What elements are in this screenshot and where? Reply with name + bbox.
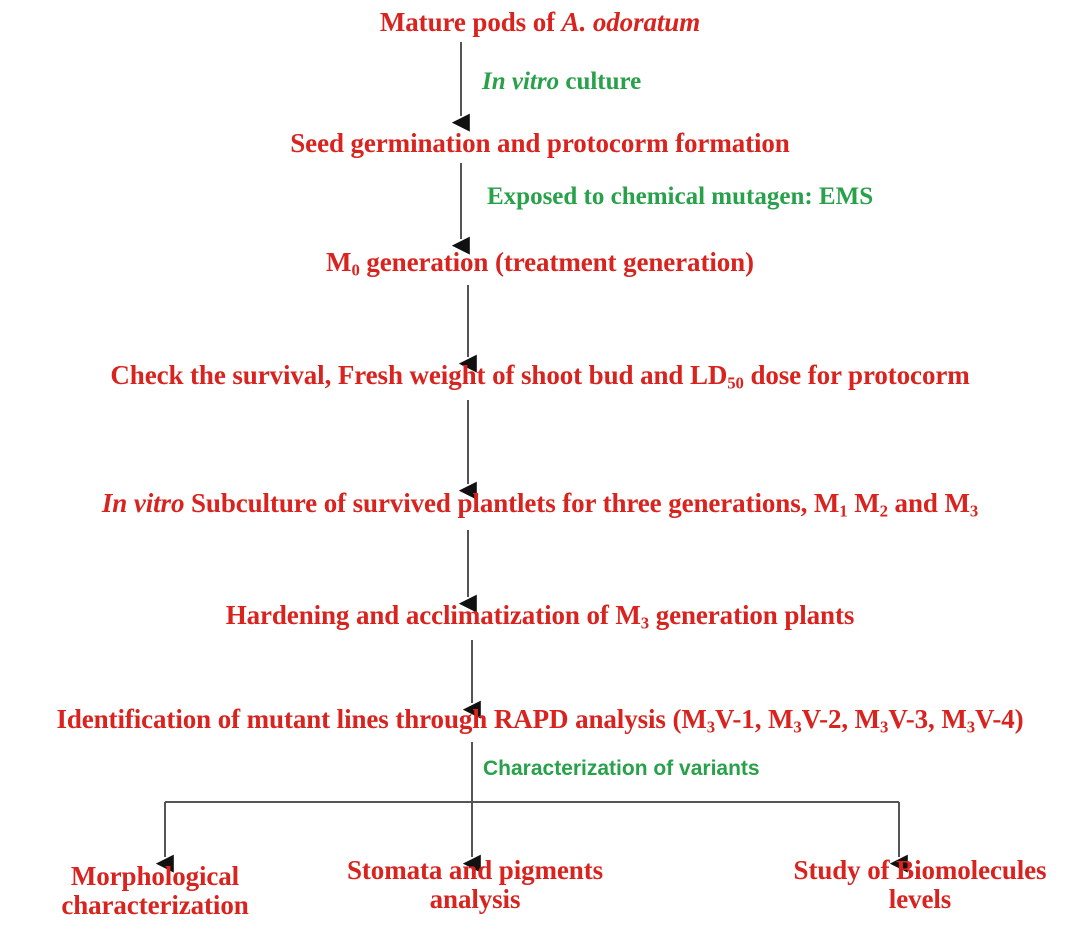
node-subculture-sub-2: 2 — [880, 502, 888, 521]
node-subculture-sep-2: and M — [888, 488, 970, 518]
flowchart-canvas: Mature pods of A. odoratum In vitro cult… — [0, 0, 1080, 937]
node-m0-generation: M0 generation (treatment generation) — [0, 248, 1080, 280]
leaf-morphological-characterization: Morphological characterization — [25, 862, 285, 920]
node-rapd-identification: Identification of mutant lines through R… — [0, 705, 1080, 737]
node-m0-pre: M — [326, 247, 351, 277]
annotation-in-vitro-rest: culture — [559, 68, 641, 95]
node-hardening: Hardening and acclimatization of M3 gene… — [0, 601, 1080, 633]
node-check-survival: Check the survival, Fresh weight of shoo… — [0, 361, 1080, 393]
node-check-post: dose for protocorm — [744, 360, 970, 390]
node-rapd-seg-5: V-4) — [975, 704, 1024, 734]
node-subculture-mid: Subculture of survived plantlets for thr… — [184, 488, 839, 518]
node-seed-germination: Seed germination and protocorm formation — [0, 129, 1080, 158]
node-mature-pods: Mature pods of A. odoratum — [0, 8, 1080, 37]
leaf-biomolecules-line-2: levels — [765, 885, 1075, 914]
annotation-ems-text: Exposed to chemical mutagen: EMS — [487, 183, 873, 210]
node-rapd-sub-d: 3 — [967, 718, 975, 737]
leaf-biomolecules: Study of Biomolecules levels — [765, 856, 1075, 914]
node-rapd-pre: Identification of mutant lines through R… — [56, 704, 706, 734]
node-rapd-sub-a: 3 — [707, 718, 715, 737]
leaf-stomata-pigments: Stomata and pigments analysis — [330, 856, 620, 914]
node-hardening-pre: Hardening and acclimatization of M — [226, 600, 641, 630]
leaf-stomata-line-1: Stomata and pigments — [330, 856, 620, 885]
node-m0-subscript: 0 — [351, 261, 359, 280]
node-hardening-subscript: 3 — [641, 614, 649, 633]
node-subculture-sep-1: M — [848, 488, 880, 518]
node-rapd-seg-3: V-2, M — [802, 704, 880, 734]
leaf-morphological-line-2: characterization — [25, 891, 285, 920]
annotation-ems-exposure: Exposed to chemical mutagen: EMS — [487, 183, 873, 211]
node-subculture-sub-3: 3 — [970, 502, 978, 521]
node-rapd-sub-b: 3 — [793, 718, 801, 737]
annotation-in-vitro-culture: In vitro culture — [482, 68, 641, 96]
node-rapd-seg-4: V-3, M — [888, 704, 966, 734]
node-m0-post: generation (treatment generation) — [360, 247, 754, 277]
node-hardening-post: generation plants — [649, 600, 854, 630]
node-check-pre: Check the survival, Fresh weight of shoo… — [110, 360, 727, 390]
annotation-characterization-text: Characterization of variants — [483, 757, 760, 780]
leaf-stomata-line-2: analysis — [330, 885, 620, 914]
node-mature-pods-species: A. odoratum — [562, 7, 700, 37]
node-rapd-seg-2: V-1, M — [715, 704, 793, 734]
leaf-biomolecules-line-1: Study of Biomolecules — [765, 856, 1075, 885]
annotation-in-vitro-italic: In vitro — [482, 68, 559, 95]
annotation-characterization-of-variants: Characterization of variants — [483, 757, 760, 781]
node-subculture-sub-1: 1 — [839, 502, 847, 521]
node-seed-germination-text: Seed germination and protocorm formation — [290, 128, 789, 158]
node-check-subscript: 50 — [727, 374, 744, 393]
leaf-morphological-line-1: Morphological — [25, 862, 285, 891]
node-subculture-italic: In vitro — [102, 488, 184, 518]
node-mature-pods-pre: Mature pods of — [380, 7, 562, 37]
node-in-vitro-subculture: In vitro Subculture of survived plantlet… — [0, 489, 1080, 521]
